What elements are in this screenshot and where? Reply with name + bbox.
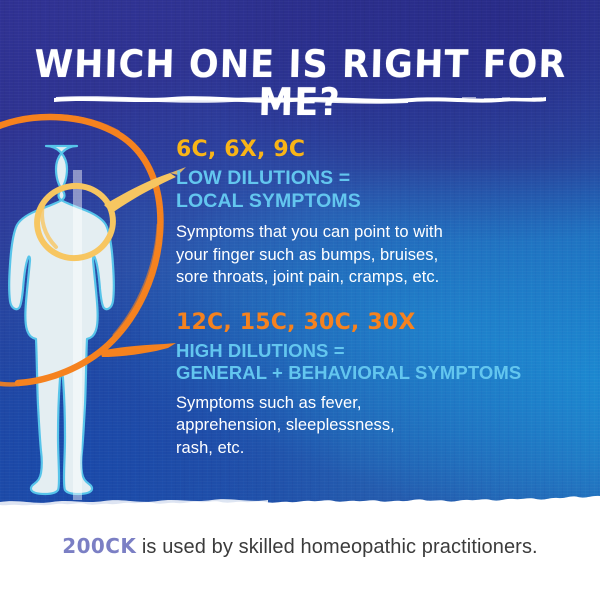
body-text-high: Symptoms such as fever, apprehension, sl… [176,392,596,459]
section-high-dilutions: 12C, 15C, 30C, 30X HIGH DILUTIONS = GENE… [176,311,596,459]
footer-note: 200CK is used by skilled homeopathic pra… [0,534,600,559]
footer-note-text: is used by skilled homeopathic practitio… [136,536,537,558]
page-title: WHICH ONE IS RIGHT FOR ME? [23,45,577,121]
dose-label-low: 6C, 6X, 9C [176,138,596,161]
footer-dilution-code: 200CK [62,534,136,558]
human-silhouette-icon [0,130,164,550]
subhead-low: LOW DILUTIONS = LOCAL SYMPTOMS [176,167,596,212]
dose-label-high: 12C, 15C, 30C, 30X [176,311,596,334]
body-text-low: Symptoms that you can point to with your… [176,221,596,288]
title-underline-brushstroke [52,92,548,106]
section-low-dilutions: 6C, 6X, 9C LOW DILUTIONS = LOCAL SYMPTOM… [176,138,596,289]
infographic-card: WHICH ONE IS RIGHT FOR ME? [0,0,600,600]
subhead-high: HIGH DILUTIONS = GENERAL + BEHAVIORAL SY… [176,340,596,383]
